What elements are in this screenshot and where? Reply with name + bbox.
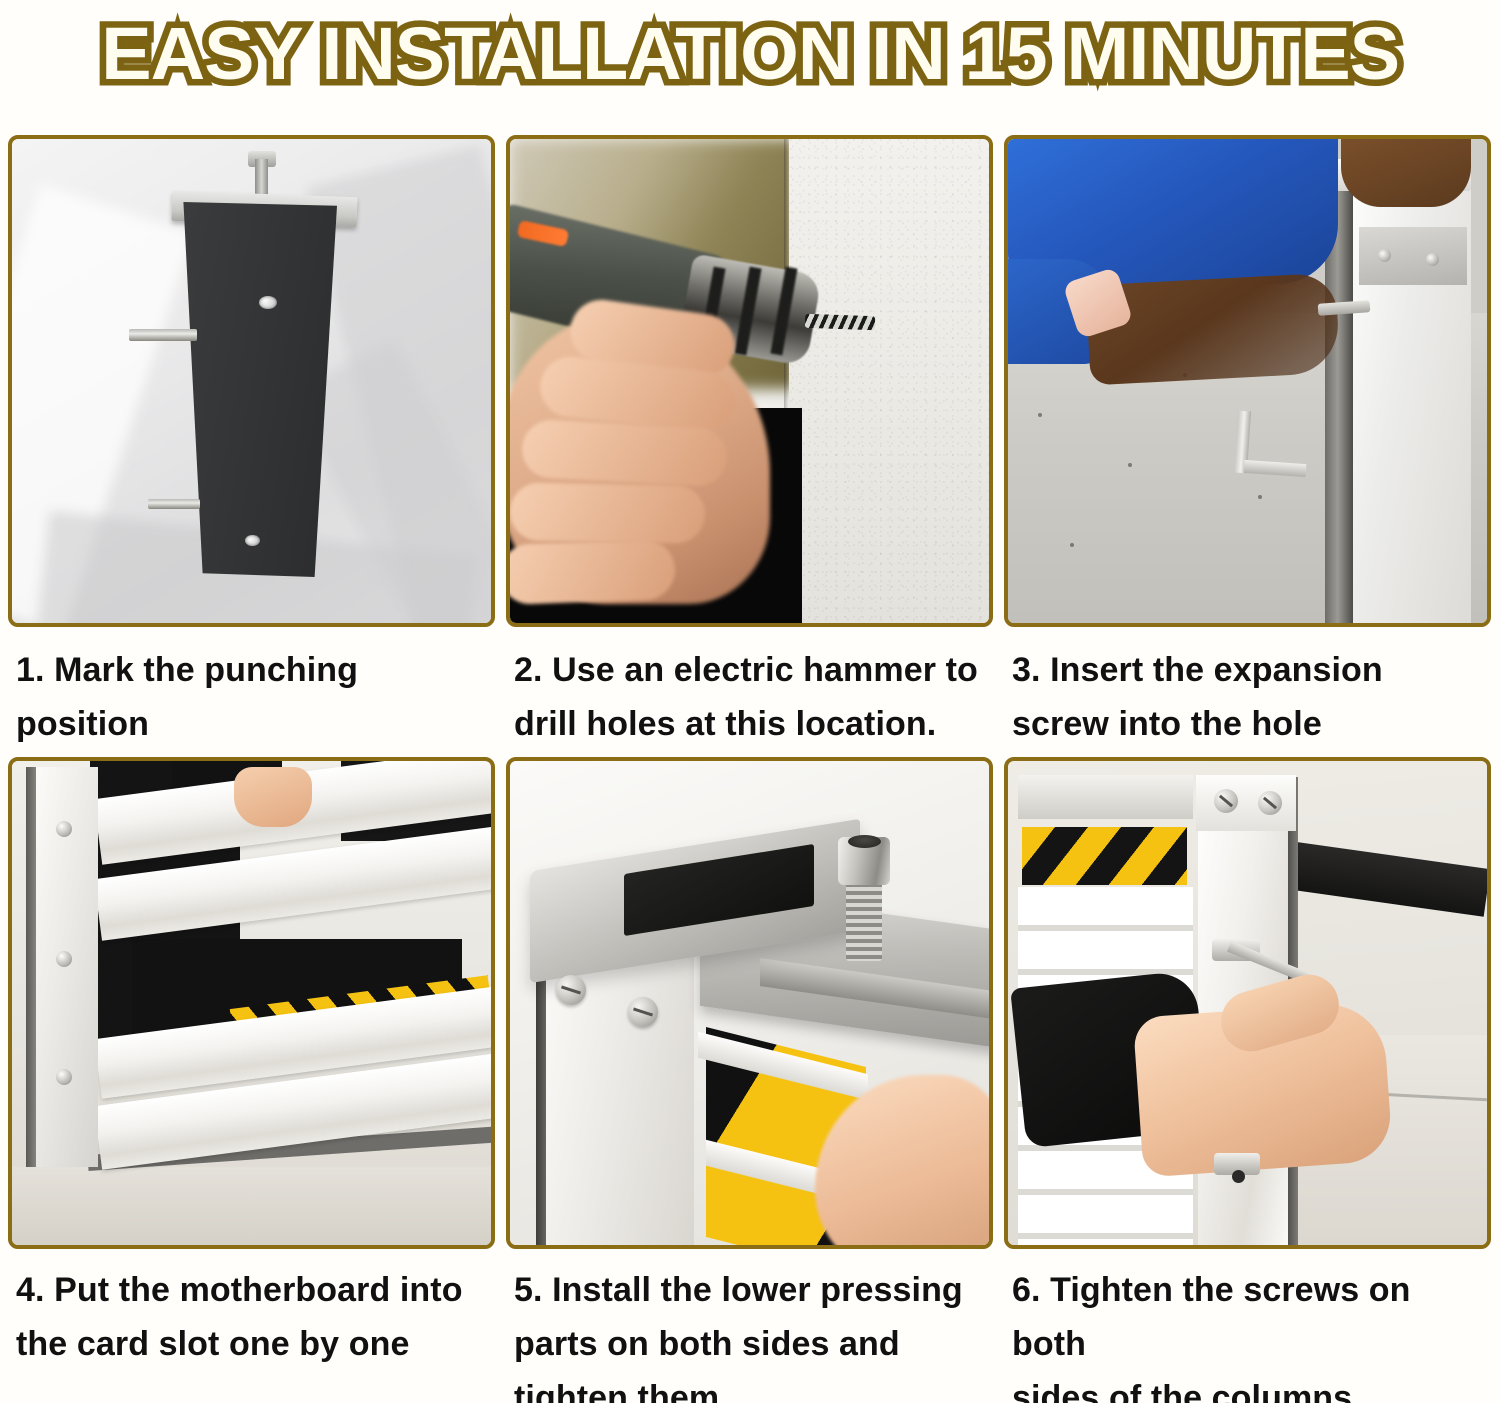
column-screw — [56, 821, 72, 837]
finger — [510, 539, 676, 605]
mounting-plate-template — [177, 202, 337, 577]
installation-steps-grid: 1. Mark the punching position — [8, 135, 1492, 1403]
drill-bit — [805, 314, 875, 330]
step-card-3: 3. Insert the expansion screw into the h… — [1004, 135, 1491, 751]
step-4-caption: 4. Put the motherboard into the card slo… — [8, 1263, 495, 1371]
step-5-caption: 5. Install the lower pressing parts on b… — [506, 1263, 993, 1403]
step-2-caption: 2. Use an electric hammer to drill holes… — [506, 643, 993, 751]
step-4-photo-frame — [8, 757, 495, 1249]
step-1-caption: 1. Mark the punching position — [8, 643, 495, 751]
step-1-photo-frame — [8, 135, 495, 627]
step-card-2: 2. Use an electric hammer to drill holes… — [506, 135, 993, 751]
barrier-top-board — [1018, 775, 1193, 819]
column-screw — [1214, 789, 1238, 813]
step-4-insert-boards-photo — [12, 761, 491, 1245]
hazard-stripe-tape — [1022, 827, 1187, 885]
column-screw — [56, 951, 72, 967]
drill-mark-hole — [259, 296, 277, 309]
step-card-5: 5. Install the lower pressing parts on b… — [506, 757, 993, 1403]
step-6-photo-frame — [1004, 757, 1491, 1249]
floor — [12, 1167, 491, 1245]
alignment-pin — [129, 329, 197, 341]
wall-surface — [789, 139, 989, 623]
bracket-screw — [556, 975, 586, 1005]
page-header: EASY INSTALLATION IN 15 MINUTES — [0, 0, 1500, 108]
alignment-pin — [148, 499, 200, 509]
column-screw — [56, 1069, 72, 1085]
step-2-photo-frame — [506, 135, 993, 627]
step-3-photo-frame — [1004, 135, 1491, 627]
column-screw — [1378, 249, 1391, 262]
column-screw — [1426, 253, 1439, 266]
finger — [521, 419, 729, 488]
column-face-plate — [1359, 227, 1467, 285]
step-5-photo-frame — [506, 757, 993, 1249]
page-title: EASY INSTALLATION IN 15 MINUTES — [101, 15, 1399, 93]
step-card-1: 1. Mark the punching position — [8, 135, 495, 751]
step-2-drill-holes-photo — [510, 139, 989, 623]
thumb-bolt-thread — [846, 879, 882, 961]
step-3-insert-expansion-screw-photo — [1008, 139, 1487, 623]
step-6-tighten-screws-photo — [1008, 761, 1487, 1245]
column-screw — [1258, 791, 1282, 815]
drill-mark-hole — [245, 535, 260, 546]
worker-forearm — [1086, 273, 1341, 386]
installation-guide-page: EASY INSTALLATION IN 15 MINUTES — [0, 0, 1500, 1403]
worker-upper-arm — [1341, 139, 1471, 207]
step-5-install-pressing-parts-photo — [510, 761, 989, 1245]
finger — [510, 482, 705, 543]
lower-screw-head — [1232, 1170, 1245, 1183]
step-card-6: 6. Tighten the screws on both sides of t… — [1004, 757, 1491, 1403]
bracket-screw — [628, 997, 658, 1027]
thumb-bolt-socket — [848, 835, 881, 848]
step-card-4: 4. Put the motherboard into the card slo… — [8, 757, 495, 1403]
step-1-mark-punching-position-photo — [12, 139, 491, 623]
step-3-caption: 3. Insert the expansion screw into the h… — [1004, 643, 1491, 751]
step-6-caption: 6. Tighten the screws on both sides of t… — [1004, 1263, 1491, 1403]
hand — [234, 767, 312, 827]
